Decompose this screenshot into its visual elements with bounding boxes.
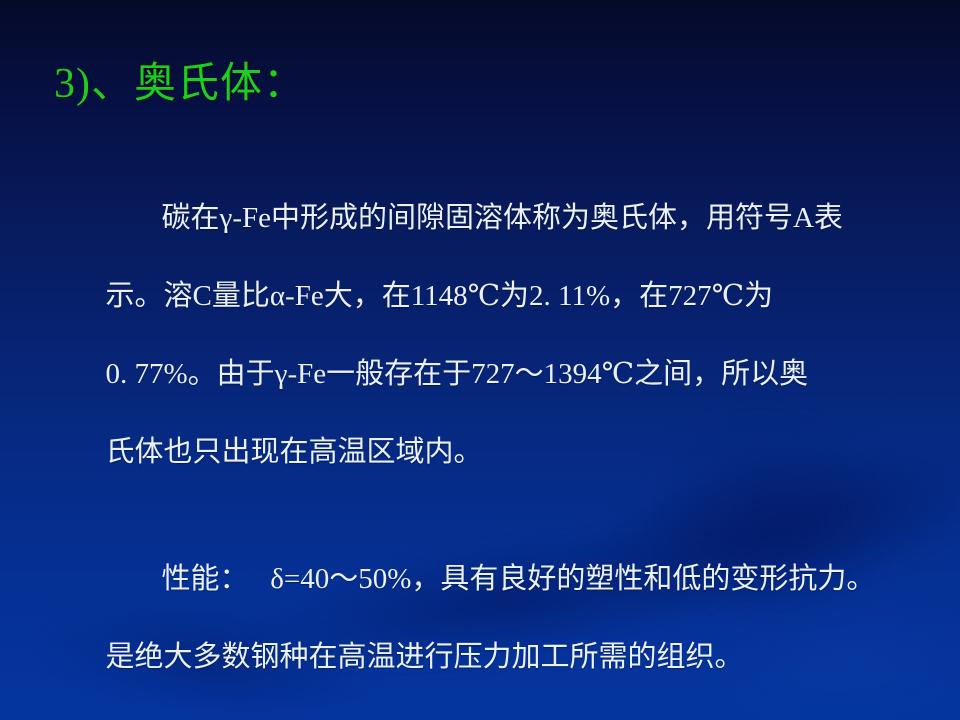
body-line: 碳在γ-Fe中形成的间隙固溶体称为奥氏体，用符号A表 [162, 202, 843, 234]
presentation-slide: 3)、奥氏体： 碳在γ-Fe中形成的间隙固溶体称为奥氏体，用符号A表 示。溶C量… [0, 0, 960, 720]
slide-title: 3)、奥氏体： [54, 58, 306, 110]
body-line: 性能： δ=40～50%，具有良好的塑性和低的变形抗力。 [162, 563, 876, 595]
paragraph-properties: 性能： δ=40～50%，具有良好的塑性和低的变形抗力。 是绝大多数钢种在高温进… [62, 521, 902, 716]
slide-body: 碳在γ-Fe中形成的间隙固溶体称为奥氏体，用符号A表 示。溶C量比α-Fe大，在… [62, 160, 902, 720]
body-line: 示。溶C量比α-Fe大，在1148℃为2. 11%，在727℃为 [106, 280, 774, 312]
body-line: 是绝大多数钢种在高温进行压力加工所需的组织。 [106, 641, 744, 673]
body-line: 0. 77%。由于γ-Fe一般存在于727～1394℃之间，所以奥 [106, 358, 809, 390]
body-line: 氏体也只出现在高温区域内。 [106, 436, 483, 468]
paragraph-definition: 碳在γ-Fe中形成的间隙固溶体称为奥氏体，用符号A表 示。溶C量比α-Fe大，在… [62, 160, 902, 511]
